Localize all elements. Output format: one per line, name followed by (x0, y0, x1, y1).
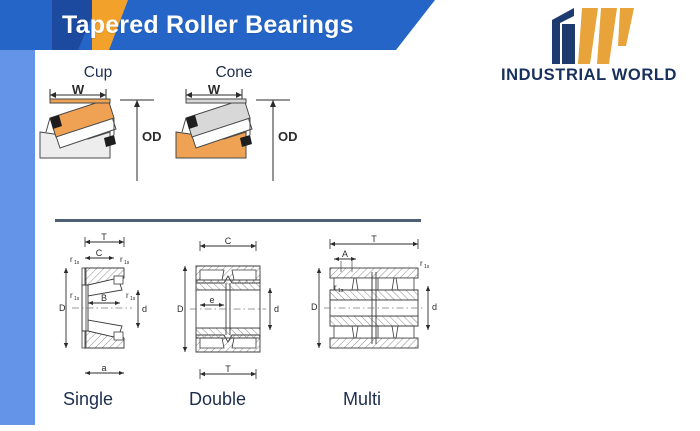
label-multi: Multi (343, 389, 381, 410)
single-r-sub-3: 1s (74, 296, 80, 302)
single-C-label: C (96, 248, 103, 258)
company-logo: INDUSTRIAL WORLD (486, 6, 692, 92)
multi-r-sub-1: 1s (424, 264, 430, 270)
slide-page: Tapered Roller Bearings INDUSTRIAL WORLD… (0, 0, 700, 431)
company-name: INDUSTRIAL WORLD (486, 66, 692, 85)
double-C-label: C (225, 236, 232, 246)
single-r-label-3: r (70, 291, 73, 300)
multi-D-label: D (311, 302, 318, 312)
section-divider (55, 219, 421, 222)
multi-T-label: T (371, 234, 377, 244)
single-T-label: T (101, 232, 107, 242)
multi-r-sub-2: 1s (338, 288, 344, 294)
label-single: Single (63, 389, 113, 410)
single-a-label: a (101, 363, 106, 373)
figure-cone: Cone W OD (186, 64, 326, 179)
cup-od-label: OD (142, 129, 162, 144)
figure-multi: T A (308, 228, 444, 388)
single-r-sub-2: 1s (124, 260, 130, 266)
double-d-label: d (274, 304, 279, 314)
iw-monogram-icon (548, 6, 634, 64)
figure-single: T C D (52, 228, 177, 388)
double-e-label: e (209, 295, 214, 305)
single-d-label: d (142, 304, 147, 314)
cone-width-label: W (208, 82, 221, 97)
figure-cup-caption: Cup (28, 64, 168, 82)
single-r-label-1: r (70, 255, 73, 264)
multi-r-label-2: r (334, 283, 337, 292)
single-r-label-2: r (120, 255, 123, 264)
figure-cone-caption: Cone (164, 64, 304, 82)
cup-width-label: W (72, 82, 85, 97)
multi-d-label: d (432, 302, 437, 312)
cone-od-label: OD (278, 129, 298, 144)
label-double: Double (189, 389, 246, 410)
double-T-label: T (225, 364, 231, 374)
double-D-label: D (177, 304, 184, 314)
page-title: Tapered Roller Bearings (62, 11, 354, 40)
multi-A-label: A (342, 249, 348, 259)
multi-r-label-1: r (420, 259, 423, 268)
single-r-sub-1: 1s (74, 260, 80, 266)
single-r-label-4: r (126, 291, 129, 300)
single-B-label: B (101, 293, 107, 303)
single-r-sub-4: 1s (130, 296, 136, 302)
figure-double: C D d (172, 228, 302, 390)
single-D-label: D (59, 303, 66, 313)
